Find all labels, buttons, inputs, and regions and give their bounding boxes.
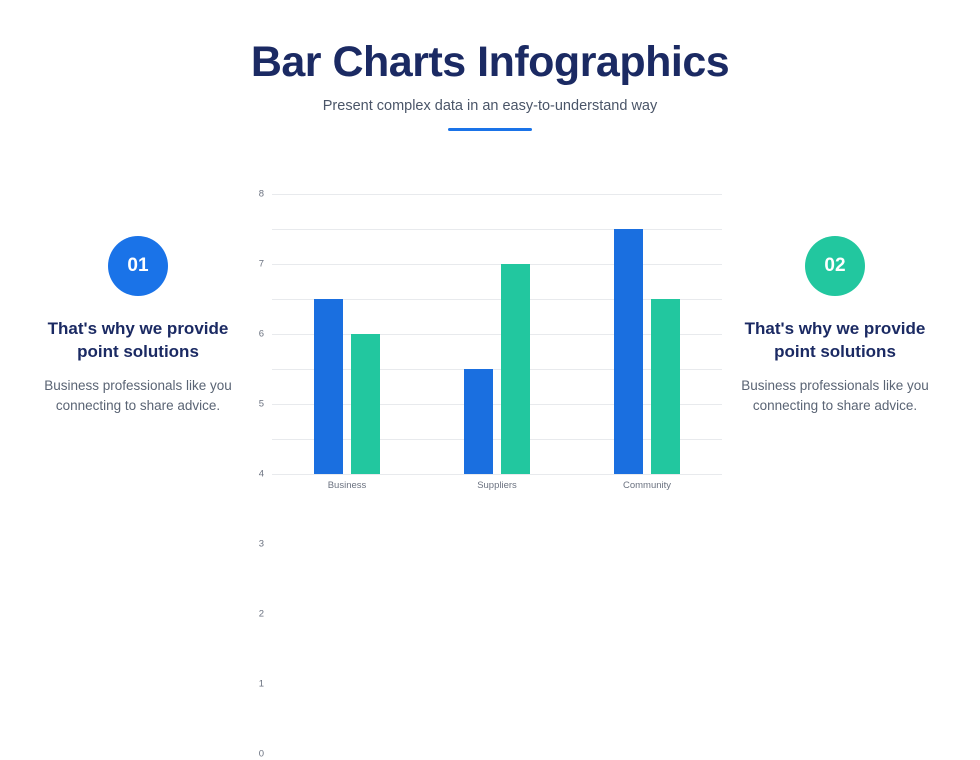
bar <box>651 299 680 474</box>
chart-bars <box>272 194 722 474</box>
bar-group <box>314 194 380 474</box>
page-title: Bar Charts Infographics <box>0 38 980 86</box>
bar <box>351 334 380 474</box>
y-axis-tick-0: 0 <box>244 749 264 760</box>
bar <box>501 264 530 474</box>
y-axis-tick-3: 3 <box>244 539 264 550</box>
slide-header: Bar Charts Infographics Present complex … <box>0 38 980 131</box>
bar <box>314 299 343 474</box>
y-axis-tick-2: 2 <box>244 609 264 620</box>
info-body-01: Business professionals like you connecti… <box>33 376 243 417</box>
x-axis-tick-business: Business <box>307 480 387 491</box>
y-axis-tick-6: 6 <box>244 329 264 340</box>
badge-number-02: 02 <box>805 236 865 296</box>
bar <box>464 369 493 474</box>
bar-chart: 012345678 BusinessSuppliersCommunity <box>246 188 728 498</box>
page-subtitle: Present complex data in an easy-to-under… <box>0 98 980 114</box>
gridline-0: 0 <box>272 474 722 475</box>
info-heading-02: That's why we provide point solutions <box>730 318 940 364</box>
chart-x-axis-labels: BusinessSuppliersCommunity <box>272 480 722 491</box>
x-axis-tick-suppliers: Suppliers <box>457 480 537 491</box>
y-axis-tick-7: 7 <box>244 259 264 270</box>
y-axis-tick-8: 8 <box>244 189 264 200</box>
bar-group <box>464 194 530 474</box>
y-axis-tick-4: 4 <box>244 469 264 480</box>
badge-number-01: 01 <box>108 236 168 296</box>
info-block-01: 01 That's why we provide point solutions… <box>33 236 243 416</box>
title-underline-rule <box>448 128 532 131</box>
y-axis-tick-5: 5 <box>244 399 264 410</box>
y-axis-tick-1: 1 <box>244 679 264 690</box>
x-axis-tick-community: Community <box>607 480 687 491</box>
info-heading-01: That's why we provide point solutions <box>33 318 243 364</box>
slide-canvas: Bar Charts Infographics Present complex … <box>0 0 980 551</box>
bar-group <box>614 194 680 474</box>
bar <box>614 229 643 474</box>
info-block-02: 02 That's why we provide point solutions… <box>730 236 940 416</box>
chart-plot-area: 012345678 <box>272 194 722 474</box>
info-body-02: Business professionals like you connecti… <box>730 376 940 417</box>
